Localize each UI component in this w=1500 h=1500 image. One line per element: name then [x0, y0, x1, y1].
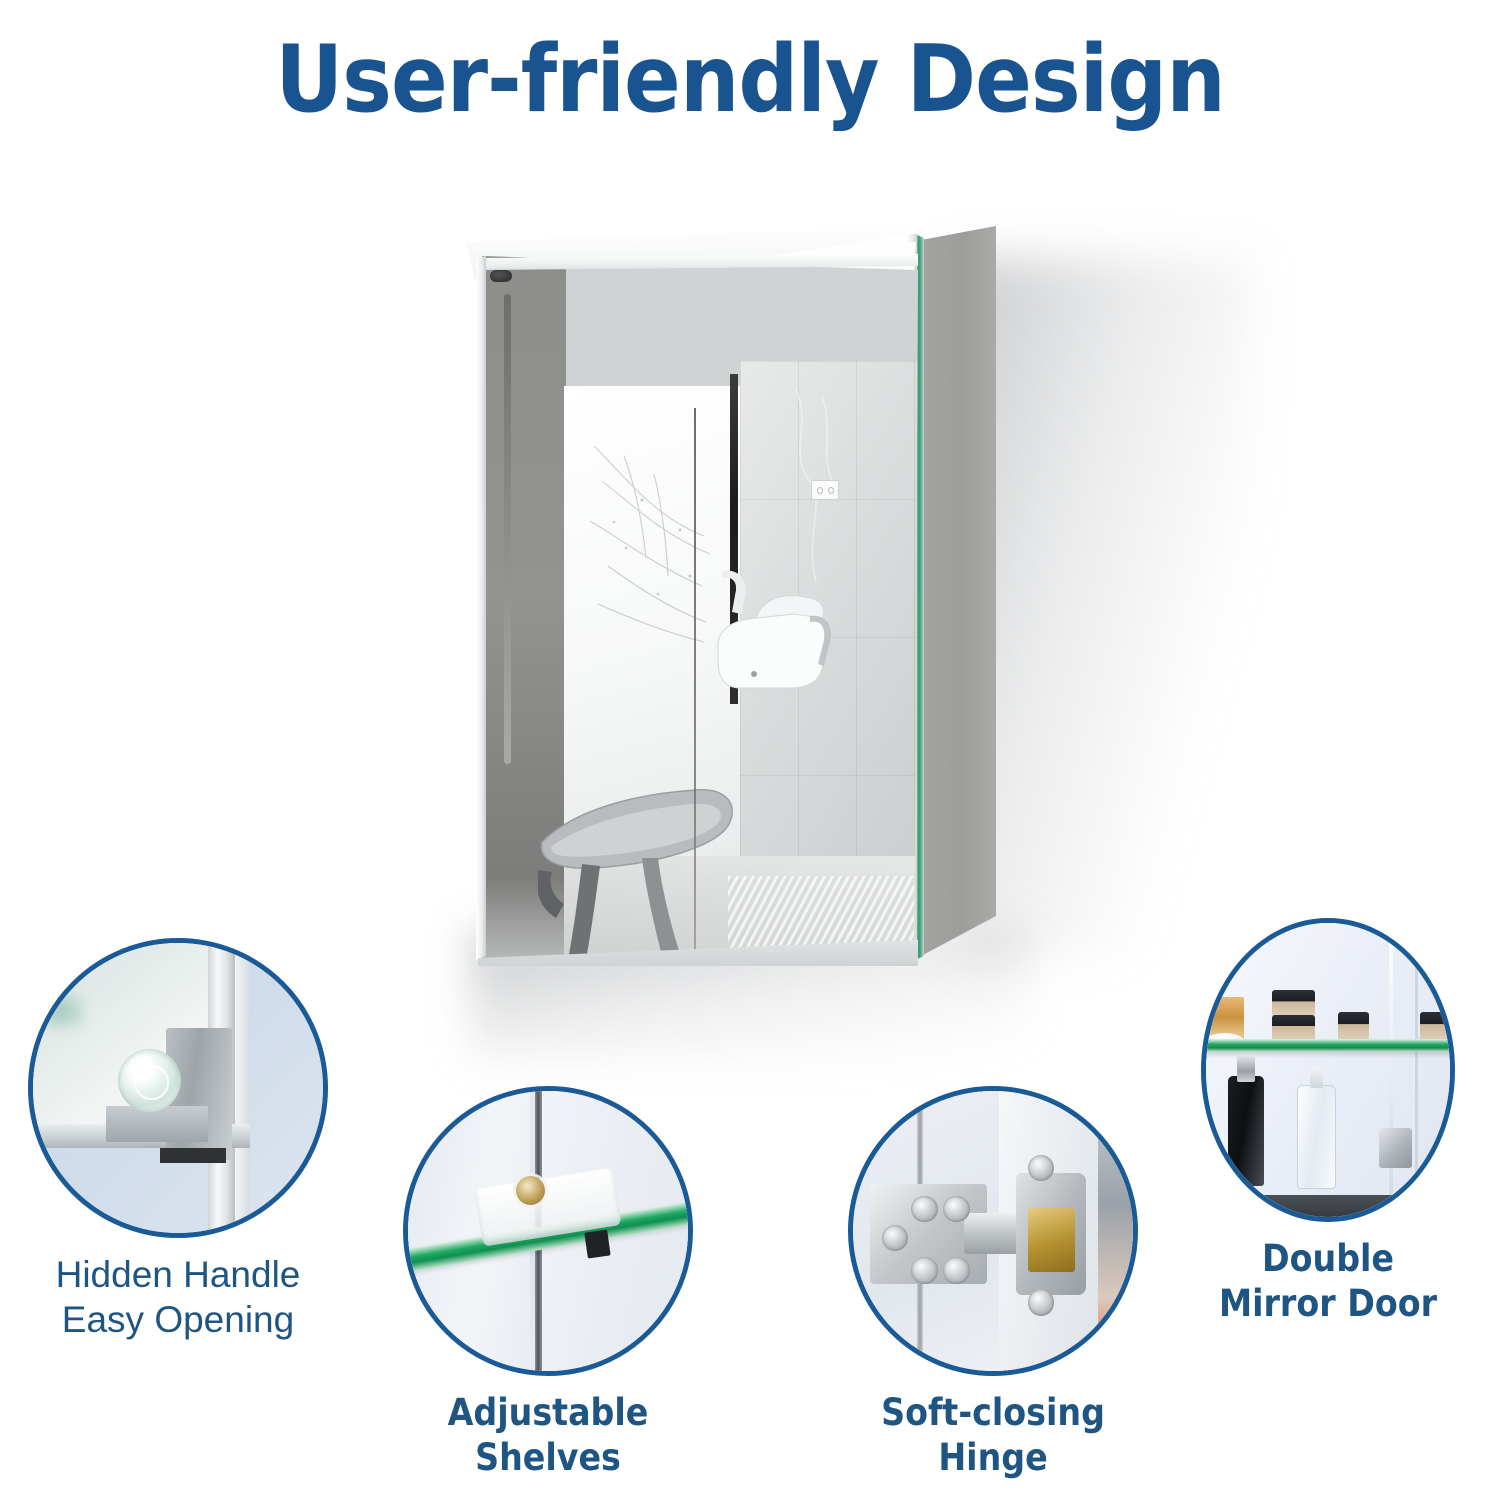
interior-glass-shelf: [1201, 1039, 1455, 1052]
shadow-gap: [160, 1148, 226, 1163]
reflection-stool: [538, 746, 758, 962]
hinge-screw: [943, 1257, 969, 1283]
callout-adjustable-shelves: Adjustable Shelves: [388, 1086, 708, 1480]
clip-screw: [516, 1176, 545, 1205]
hinge-screw: [911, 1257, 937, 1283]
hinge-screw: [1028, 1289, 1054, 1315]
reflection-branches: [584, 426, 724, 676]
reflection-toilet: [710, 566, 838, 696]
cabinet-side-panel: [921, 226, 996, 956]
frame-vertical-inner: [235, 938, 250, 1238]
hinge-damper: [1028, 1208, 1075, 1272]
callout-caption-hidden-handle: Hidden Handle Easy Opening: [18, 1252, 338, 1342]
mirror-door-surface: [478, 256, 918, 962]
hinge-screw: [911, 1196, 937, 1222]
shelf-end-stop: [584, 1230, 611, 1259]
hinge-screw: [943, 1196, 969, 1222]
callout-hidden-handle: Hidden Handle Easy Opening: [18, 938, 338, 1342]
callout-caption-adjustable-shelves: Adjustable Shelves: [388, 1390, 708, 1480]
handle-bracket-lower: [106, 1106, 209, 1142]
cosmetic-black-jar: [1272, 990, 1316, 1018]
callout-photo-adjustable-shelves: [403, 1086, 693, 1376]
cabinet-interior-base: [1201, 1195, 1455, 1222]
callout-photo-double-mirror-door: [1201, 918, 1455, 1222]
cosmetic-black-jar: [1338, 1012, 1369, 1043]
mirror-bevel-left: [476, 256, 486, 960]
cabinet-top-hinge: [490, 270, 512, 282]
interior-divider-secondary: [1415, 929, 1418, 1211]
background-wall: [1092, 1086, 1138, 1376]
mirror-cabinet: [466, 226, 928, 962]
cosmetic-black-jar: [1272, 1015, 1316, 1043]
serum-dropper-cap: [1237, 1055, 1255, 1083]
reflection-wall-switch: [811, 480, 839, 500]
wall-shadow-right: [955, 258, 1255, 958]
hero-product-image: [0, 0, 1500, 1050]
callout-photo-soft-closing-hinge: [848, 1086, 1138, 1376]
callout-soft-closing-hinge: Soft-closing Hinge: [833, 1086, 1153, 1480]
glass-knob: [118, 1049, 181, 1112]
interior-divider: [1389, 923, 1392, 1217]
mirror-door-seam: [694, 408, 696, 960]
callout-caption-soft-closing-hinge: Soft-closing Hinge: [833, 1390, 1153, 1480]
callout-double-mirror-door: Double Mirror Door: [1168, 918, 1488, 1326]
serum-bottle-black: [1228, 1076, 1264, 1186]
callout-caption-double-mirror-door: Double Mirror Door: [1168, 1236, 1488, 1326]
cosmetic-black-jar: [1420, 1012, 1448, 1043]
interior-hinge: [1379, 1128, 1412, 1168]
perfume-bottle-clear: [1297, 1085, 1335, 1189]
perfume-cap: [1310, 1067, 1323, 1088]
callout-photo-hidden-handle: [28, 938, 328, 1238]
